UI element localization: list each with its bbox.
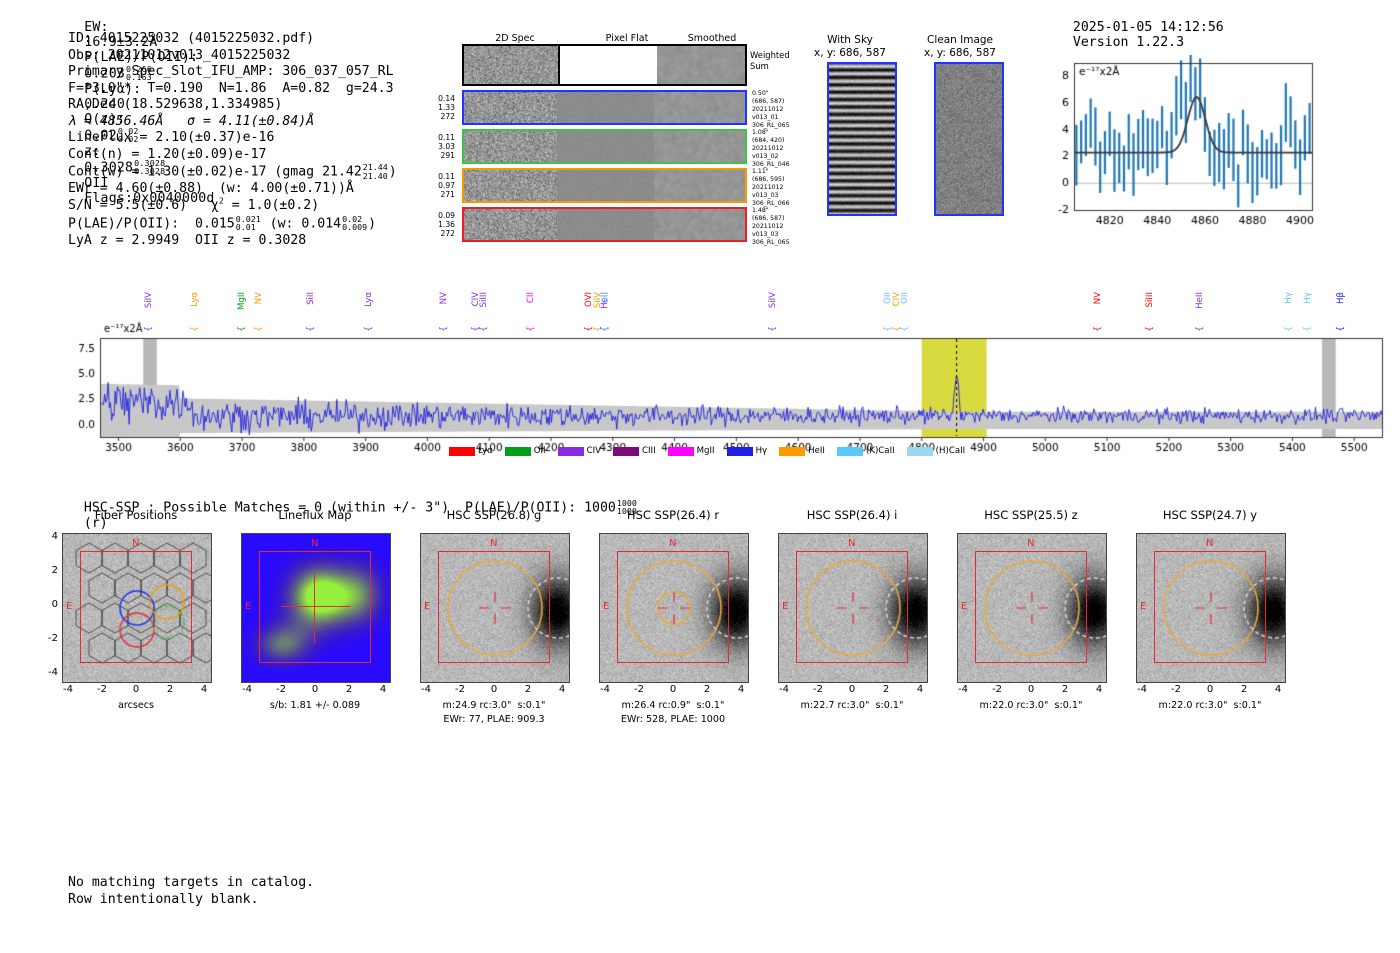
cutout-xtick: -2 [985, 684, 1009, 695]
cutout-xtick: -4 [1130, 684, 1154, 695]
weighted-sum-smoothed-image [657, 46, 745, 84]
spectrum-line-label: SiIII [479, 292, 489, 307]
fiber-row: 0.11 3.03 2911.08" (684, 420) 20211012 v… [415, 129, 815, 166]
spectrum-line-brace: { [439, 326, 449, 332]
fiber-row: 0.09 1.36 2721.48" (686, 587) 20211012 v… [415, 207, 815, 244]
fiber-row-meta: 1.48" (686, 587) 20211012 v013_03 306_RL… [752, 207, 822, 247]
spectrum-line-labels: SiIV{Lyα{MgII{NV{SiII{Lyα{NV{CIV{SiIII{C… [60, 282, 1390, 352]
cutout-ytick: 0 [36, 599, 58, 610]
cutout-fov-box [975, 551, 1087, 663]
legend-label: OII [534, 446, 546, 456]
legend-item: CIV [558, 446, 601, 456]
param-plae: P(LAE)/P(OII): 0.0150.0210.01 (w: 0.0140… [68, 215, 397, 233]
cutout-xtick: 2 [516, 684, 540, 695]
legend-item: OII [505, 446, 546, 456]
weighted-sum-label: Weighted Sum [750, 50, 790, 72]
fiber-smoothed-image [654, 170, 745, 201]
cutout-crosshair [281, 606, 351, 607]
param-id: ID: 4015225032 (4015225032.pdf) [68, 31, 397, 48]
cutout-xtick: 4 [1266, 684, 1290, 695]
weighted-sum-flat-blank [560, 46, 657, 84]
fiber-row-stats: 0.09 1.36 272 [415, 211, 455, 238]
compass-n: N [669, 538, 676, 549]
cutout-caption: m:22.0 rc:3.0" s:0.1" [1114, 699, 1306, 713]
spectrum-line-brace: { [1284, 326, 1294, 332]
legend-label: CIII [642, 446, 656, 456]
compass-e: E [66, 601, 72, 612]
fiber-row-meta: 1.08" (684, 420) 20211012 v013_02 306_RL… [752, 129, 822, 169]
fiber-row-panels [462, 168, 747, 203]
compass-n: N [848, 538, 855, 549]
cutout-xtick: 0 [303, 684, 327, 695]
cutout-xtick: 0 [124, 684, 148, 695]
compass-n: N [132, 538, 139, 549]
with-sky-image [827, 62, 897, 216]
clean-image-subtitle: x, y: 686, 587 [900, 47, 1020, 60]
cutout-ytick: 4 [36, 531, 58, 542]
spectrum-line-brace: { [1195, 326, 1205, 332]
compass-n: N [1027, 538, 1034, 549]
compass-n: N [490, 538, 497, 549]
cutout-caption: m:22.0 rc:3.0" s:0.1" [935, 699, 1127, 713]
spectrum-line-label: NV [254, 292, 264, 304]
cutout-xtick: 4 [550, 684, 574, 695]
legend-swatch [668, 447, 694, 456]
cutout-caption: m:22.7 rc:3.0" s:0.1" [756, 699, 948, 713]
spectrum-line-label: SiIII [1145, 292, 1155, 307]
param-ewr: EWr = 4.60(±0.88) (w: 4.00(±0.71))Å [68, 181, 397, 198]
cutout-xtick: 4 [1087, 684, 1111, 695]
cutout-title: HSC SSP(26.8) g [410, 508, 578, 522]
clean-image-title: Clean Image x, y: 686, 587 [900, 34, 1020, 60]
cutout-xtick: -2 [269, 684, 293, 695]
cutout-fov-box [80, 551, 192, 663]
param-seeing: F=*3.0"* T=0.190 N=1.86 A=0.82 g=24.3 [68, 81, 397, 98]
fiber-row-panels [462, 129, 747, 164]
legend-item: (H)CaII [907, 446, 966, 456]
bottom-note: No matching targets in catalog. Row inte… [68, 874, 314, 908]
legend-item: CIII [613, 446, 656, 456]
spectrum-line-brace: { [1336, 326, 1346, 332]
legend-swatch [505, 447, 531, 456]
cutout-title: HSC SSP(25.5) z [947, 508, 1115, 522]
fiber-smoothed-image [654, 131, 745, 162]
spectrum-line-brace: { [306, 326, 316, 332]
fiber-row: 0.11 0.97 2711.11" (686, 595) 20211012 v… [415, 168, 815, 205]
cutout-caption: m:24.9 rc:3.0" s:0.1" [398, 699, 590, 713]
cutout-title: HSC SSP(26.4) r [589, 508, 757, 522]
legend-label: (H)CaII [936, 446, 966, 456]
weighted-sum-strip [462, 44, 747, 86]
fiber-pixelflat-image [557, 209, 654, 240]
fiber-row: 0.14 1.33 2720.50" (686, 587) 20211012 v… [415, 90, 815, 127]
param-obs: Obs: 20211012v013_4015225032 [68, 48, 397, 65]
cutout-fov-box [1154, 551, 1266, 663]
param-lambda-sigma: λ = 4856.46Å σ = 4.11(±0.84)Å [68, 114, 397, 131]
param-cont-n: Cont(n) = 1.20(±0.09)e-17 [68, 147, 397, 164]
parameter-block: ID: 4015225032 (4015225032.pdf) Obs: 202… [68, 31, 397, 249]
compass-e: E [603, 601, 609, 612]
fiber-2dspec-image [464, 170, 557, 201]
cutout-caption-secondary: EWr: 77, PLAE: 909.3 [398, 713, 590, 727]
cutout-xtick: 4 [908, 684, 932, 695]
legend-swatch [727, 447, 753, 456]
cutout-xtick: 4 [729, 684, 753, 695]
with-sky-title: With Sky x, y: 686, 587 [790, 34, 910, 60]
legend-item: Hγ [727, 446, 768, 456]
legend-label: (K)CaII [866, 446, 895, 456]
cutout-xtick: 0 [840, 684, 864, 695]
fiber-2dspec-image [464, 209, 557, 240]
plae-n-range: 0.0210.01 [236, 215, 261, 232]
cutout-xtick: 2 [337, 684, 361, 695]
cutout-xtick: -2 [1164, 684, 1188, 695]
spectrum-line-brace: { [254, 326, 264, 332]
clean-image [934, 62, 1004, 216]
param-redshifts: LyA z = 2.9949 OII z = 0.3028 [68, 233, 397, 250]
spectrum-line-label: NV [439, 292, 449, 304]
cutout-fov-box [438, 551, 550, 663]
spectrum-line-brace: { [237, 326, 247, 332]
fiber-smoothed-image [654, 209, 745, 240]
compass-e: E [245, 601, 251, 612]
cutout-row: Fiber PositionsNE-4-2024420-2-4arcsecsLi… [0, 508, 1400, 748]
fiber-2dspec-image [464, 92, 557, 123]
cutout-xtick: -4 [235, 684, 259, 695]
fiber-row-stats: 0.11 3.03 291 [415, 133, 455, 160]
spectrum-line-label: MgII [237, 292, 247, 310]
cutout-xtick: -4 [772, 684, 796, 695]
cutout-title: Fiber Positions [52, 508, 220, 522]
line-profile-plot [1040, 55, 1320, 244]
spectrum-line-label: SiII [306, 292, 316, 305]
spectrum-line-brace: { [1303, 326, 1313, 332]
spectrum-line-label: SiIV [768, 292, 778, 308]
fiber-row-stats: 0.14 1.33 272 [415, 94, 455, 121]
spectrum-line-brace: { [190, 326, 200, 332]
cutout-title: Lineflux Map [231, 508, 399, 522]
cutout-xtick: 0 [661, 684, 685, 695]
compass-n: N [311, 538, 318, 549]
param-cont-w: Cont(w) = 1.30(±0.02)e-17 (gmag 21.4221.… [68, 163, 397, 181]
compass-e: E [424, 601, 430, 612]
spectrum-line-label: Hγ [1284, 292, 1294, 304]
datetime-value: 2025-01-05 14:12:56 [1073, 20, 1224, 35]
legend-swatch [558, 447, 584, 456]
cutout-caption: m:26.4 rc:0.9" s:0.1" [577, 699, 769, 713]
cutout-xtick: 2 [1053, 684, 1077, 695]
cutout-caption-secondary: EWr: 528, PLAE: 1000 [577, 713, 769, 727]
fiber-row-stats: 0.11 0.97 271 [415, 172, 455, 199]
cutout-xtick: 4 [192, 684, 216, 695]
spectrum-line-label: NV [1093, 292, 1103, 304]
with-sky-title-text: With Sky [790, 34, 910, 47]
gmag-range: 21.4421.40 [363, 163, 388, 180]
fiber-row-panels [462, 90, 747, 125]
spectrum-line-brace: { [526, 326, 536, 332]
cutout-ytick: -2 [36, 633, 58, 644]
fiber-pixelflat-image [557, 92, 654, 123]
param-lineflux: LineFlux = 2.10(±0.37)e-16 [68, 130, 397, 147]
spectrum-line-label: OII [601, 292, 611, 304]
spectrum-legend: LyαOIICIVCIIIMgIIHγHeII(K)CaII(H)CaII [449, 446, 974, 456]
spectrum-line-label: SiIV [144, 292, 154, 308]
fiber-pixelflat-image [557, 170, 654, 201]
spectrum-line-label: Hβ [1336, 292, 1346, 304]
spectrum-line-brace: { [364, 326, 374, 332]
cutout-caption: s/b: 1.81 +/- 0.089 [219, 699, 411, 713]
param-sn-chi2: S/N = 5.5(±0.6) χ2 = 1.0(±0.2) [68, 198, 397, 215]
cutout-xtick: 0 [482, 684, 506, 695]
legend-swatch [613, 447, 639, 456]
cutout-xtick: -4 [56, 684, 80, 695]
spectrum-line-label: Lyα [364, 292, 374, 307]
cutout-fov-box [796, 551, 908, 663]
legend-label: Lyα [478, 446, 493, 456]
cutout-caption: arcsecs [40, 699, 232, 713]
param-radec: RA,Dec (18.529638,1.334985) [68, 97, 397, 114]
fiber-2dspec-image [464, 131, 557, 162]
cutout-xtick: -4 [414, 684, 438, 695]
cutout-xtick: 2 [695, 684, 719, 695]
legend-swatch [449, 447, 475, 456]
spectrum-line-brace: { [768, 326, 778, 332]
version-value: Version 1.22.3 [1073, 35, 1184, 50]
compass-e: E [782, 601, 788, 612]
cutout-xtick: 2 [874, 684, 898, 695]
cutout-ytick: 2 [36, 565, 58, 576]
panel-title-2dspec: 2D Spec [463, 33, 567, 44]
cutout-xtick: 0 [1198, 684, 1222, 695]
cutout-fov-box [617, 551, 729, 663]
panel-title-smoothed: Smoothed [660, 33, 764, 44]
plae-w-range: 0.020.009 [342, 215, 367, 232]
line-profile-canvas [1040, 55, 1320, 240]
legend-label: Hγ [756, 446, 768, 456]
fiber-pixelflat-image [557, 131, 654, 162]
header-timestamp: 2025-01-05 14:12:56 Version 1.22.3 [1057, 5, 1232, 50]
fiber-row-panels [462, 207, 747, 242]
spectrum-line-brace: { [144, 326, 154, 332]
cutout-title: HSC SSP(26.4) i [768, 508, 936, 522]
spectrum-line-label: CII [526, 292, 536, 303]
weighted-sum-2dspec-image [464, 46, 558, 84]
cutout-xtick: 0 [1019, 684, 1043, 695]
cutout-xtick: -2 [90, 684, 114, 695]
spectrum-line-label: OII [900, 292, 910, 304]
legend-swatch [907, 447, 933, 456]
cutout-xtick: -4 [951, 684, 975, 695]
cutout-xtick: 2 [158, 684, 182, 695]
legend-item: MgII [668, 446, 715, 456]
spectrum-line-brace: { [900, 326, 910, 332]
legend-swatch [837, 447, 863, 456]
spectrum-line-brace: { [1145, 326, 1155, 332]
with-sky-subtitle: x, y: 686, 587 [790, 47, 910, 60]
spectrum-line-label: HeII [1195, 292, 1205, 309]
compass-e: E [1140, 601, 1146, 612]
cutout-xtick: -2 [448, 684, 472, 695]
cutout-xtick: -4 [593, 684, 617, 695]
cutout-crosshair [314, 573, 315, 643]
cutout-xtick: -2 [806, 684, 830, 695]
spectrum-line-brace: { [479, 326, 489, 332]
fiber-row-meta: 1.11" (686, 595) 20211012 v013_03 306_RL… [752, 168, 822, 208]
legend-item: (K)CaII [837, 446, 895, 456]
legend-item: Lyα [449, 446, 493, 456]
compass-e: E [961, 601, 967, 612]
cutout-title: HSC SSP(24.7) y [1126, 508, 1294, 522]
cutout-xtick: 2 [1232, 684, 1256, 695]
legend-label: CIV [587, 446, 601, 456]
legend-label: MgII [697, 446, 715, 456]
legend-label: HeII [808, 446, 825, 456]
cutout-xtick: 4 [371, 684, 395, 695]
fiber-row-meta: 0.50" (686, 587) 20211012 v013_01 306_RL… [752, 90, 822, 130]
cutout-fov-box [259, 551, 371, 663]
cutout-ytick: -4 [36, 667, 58, 678]
fiber-smoothed-image [654, 92, 745, 123]
compass-n: N [1206, 538, 1213, 549]
spectrum-line-brace: { [601, 326, 611, 332]
cutout-xtick: -2 [627, 684, 651, 695]
param-primary-spec: Primary Spec_Slot_IFU_AMP: 306_037_057_R… [68, 64, 397, 81]
spectrum-line-label: Hγ [1303, 292, 1313, 304]
legend-swatch [779, 447, 805, 456]
spectrum-line-brace: { [1093, 326, 1103, 332]
clean-image-title-text: Clean Image [900, 34, 1020, 47]
legend-item: HeII [779, 446, 825, 456]
spectrum-line-label: Lyα [190, 292, 200, 307]
